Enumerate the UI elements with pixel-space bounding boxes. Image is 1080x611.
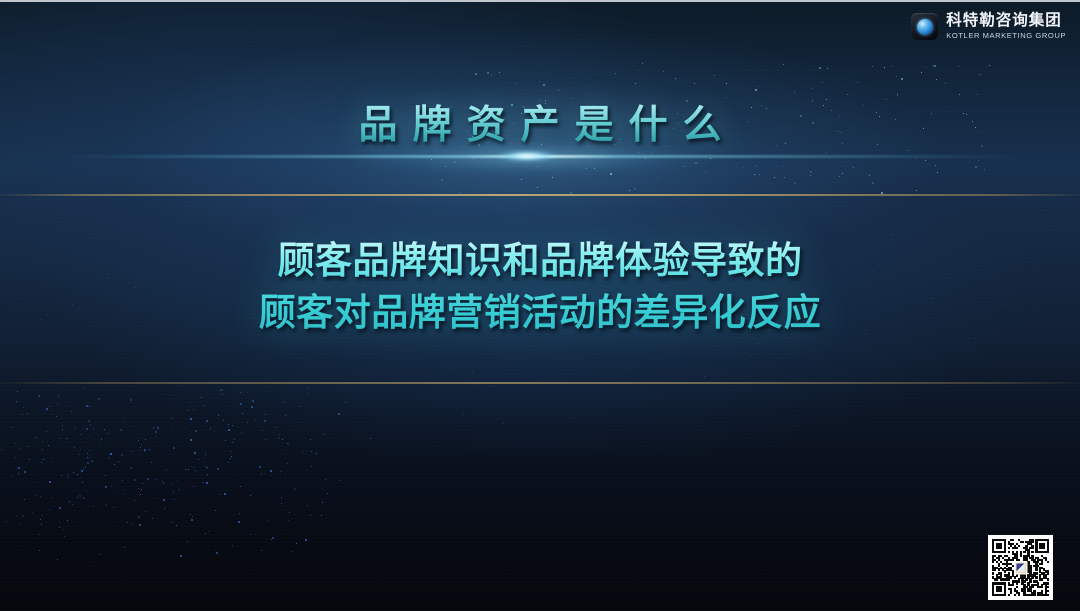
slide-canvas: 科特勒咨询集团 KOTLER MARKETING GROUP 品牌资产是什么 顾… xyxy=(0,0,1080,611)
brand-logo: 科特勒咨询集团 KOTLER MARKETING GROUP xyxy=(911,13,1066,40)
statement-line-1: 顾客品牌知识和品牌体验导致的 xyxy=(0,235,1080,287)
glow-core xyxy=(495,150,559,162)
qr-center-logo-icon xyxy=(1014,561,1027,574)
brand-name-en: KOTLER MARKETING GROUP xyxy=(946,32,1066,40)
blue-orb-icon xyxy=(911,13,938,40)
slide-statement: 顾客品牌知识和品牌体验导致的 顾客对品牌营销活动的差异化反应 xyxy=(0,235,1080,339)
brand-logo-text: 科特勒咨询集团 KOTLER MARKETING GROUP xyxy=(946,13,1066,39)
gold-rule-bottom xyxy=(0,382,1080,384)
orb-shape xyxy=(917,19,933,35)
qr-code[interactable] xyxy=(988,535,1053,600)
statement-line-2: 顾客对品牌营销活动的差异化反应 xyxy=(0,287,1080,339)
brand-name-cn: 科特勒咨询集团 xyxy=(946,13,1066,29)
glow-divider xyxy=(0,135,1080,179)
qr-matrix xyxy=(992,539,1049,596)
gold-rule-top xyxy=(0,194,1080,196)
